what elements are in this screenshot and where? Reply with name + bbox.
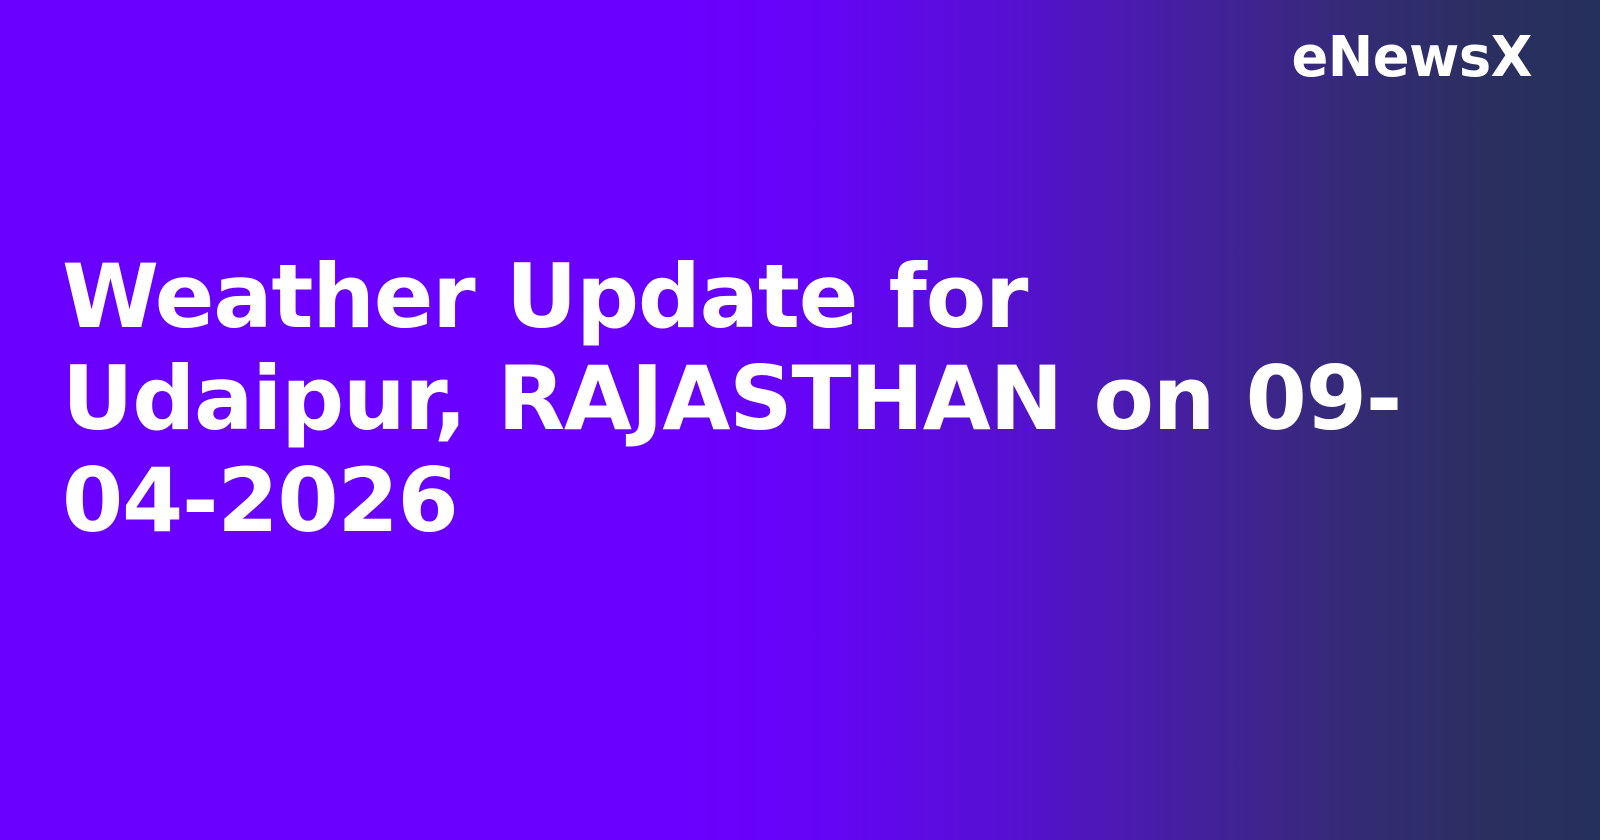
headline-container: Weather Update for Udaipur, RAJASTHAN on…: [62, 246, 1462, 552]
brand-logo[interactable]: eNewsX: [1284, 28, 1532, 88]
page-title: Weather Update for Udaipur, RAJASTHAN on…: [62, 246, 1462, 552]
brand-name-text: eNewsX: [1291, 30, 1532, 86]
weather-update-banner: eNewsX Weather Update for Udaipur, RAJAS…: [0, 0, 1600, 840]
